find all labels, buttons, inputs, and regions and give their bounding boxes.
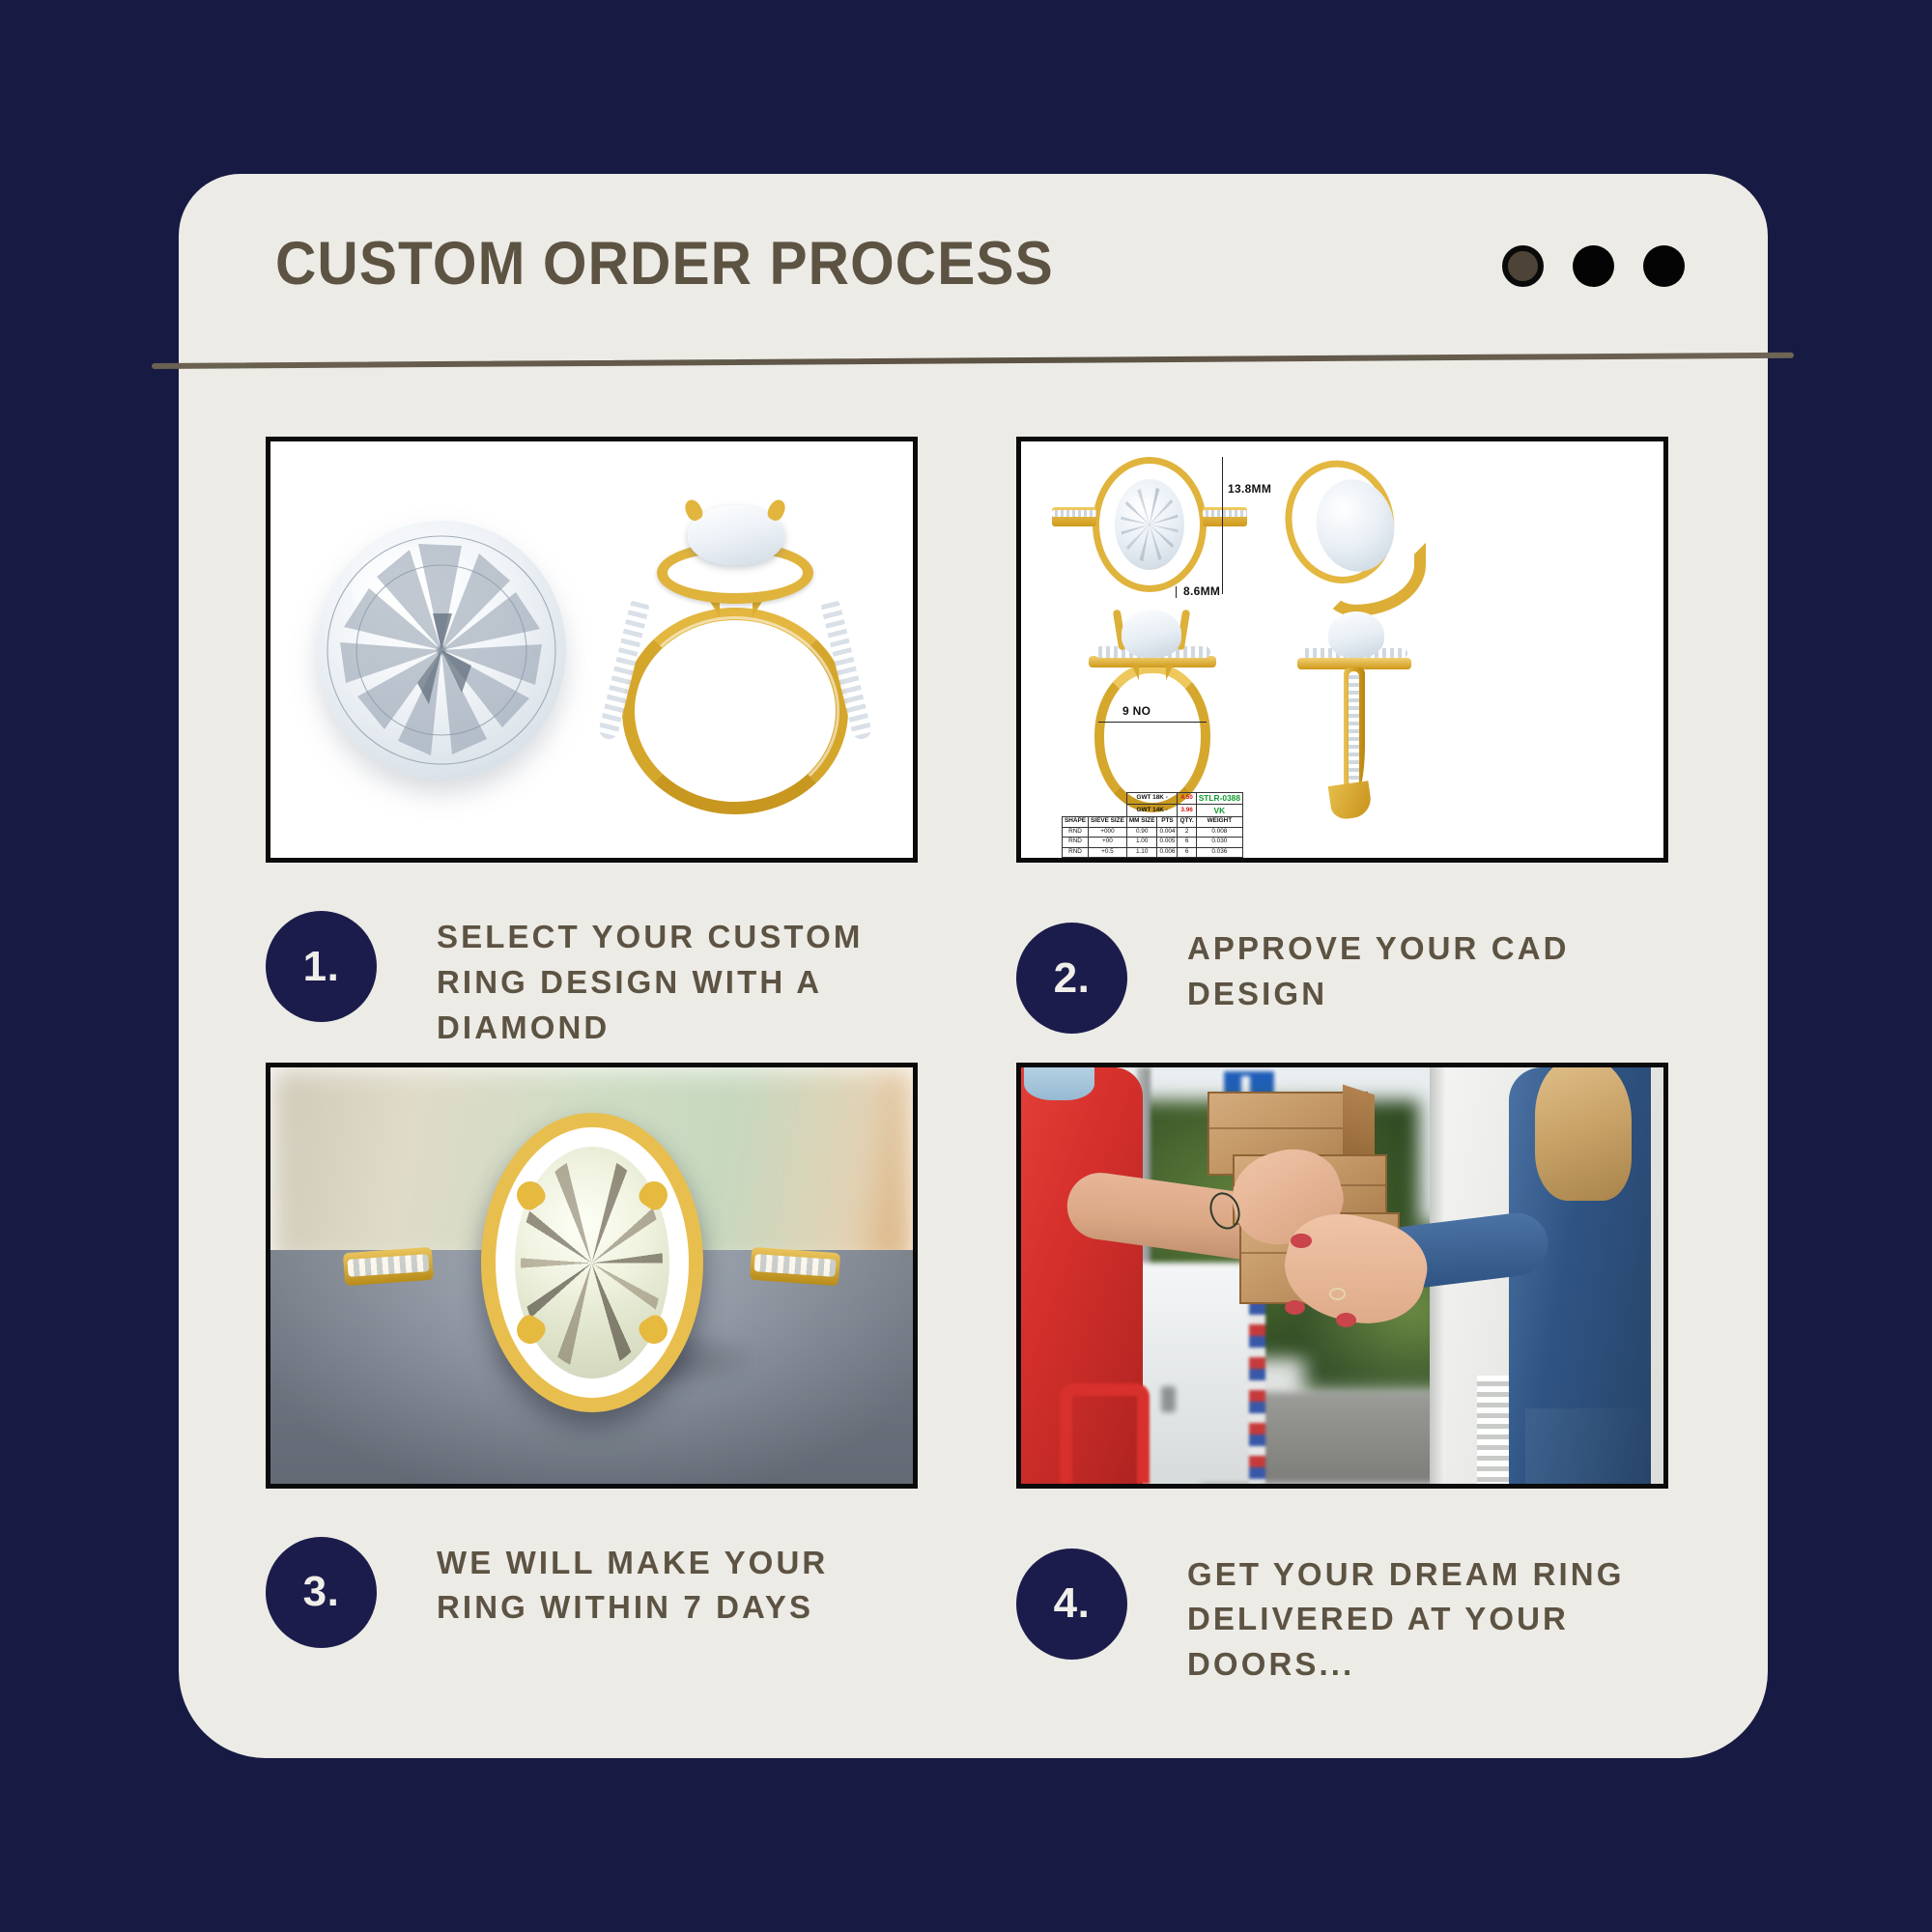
step-2-caption-row: 2. APPROVE YOUR CAD DESIGN	[1016, 923, 1668, 1034]
step-card-3[interactable]: 3. WE WILL MAKE YOUR RING WITHIN 7 DAYS	[266, 1063, 918, 1689]
window-card: CUSTOM ORDER PROCESS	[179, 174, 1768, 1758]
cad-th-weight: WEIGHT	[1196, 817, 1242, 828]
cad-table-row: RND +0.5 1.10 0.006 6 0.036	[1063, 847, 1243, 858]
finished-ring-photo	[270, 1067, 913, 1484]
step-3-caption: WE WILL MAKE YOUR RING WITHIN 7 DAYS	[437, 1537, 918, 1632]
cad-drawing-sheet: 13.8MM 8.6MM	[1021, 441, 1663, 858]
cad-dimension-8-6mm: 8.6MM	[1183, 584, 1220, 598]
cad-th-mm: MM SIZE	[1126, 817, 1157, 828]
cad-dim-leader-2	[1176, 586, 1177, 598]
cad-th-sieve: SIEVE SIZE	[1089, 817, 1127, 828]
cad-spec-table: GWT 18K - 4.50 STLR-0388 GWT 14K - 3.96 …	[1062, 792, 1243, 858]
cad-cell: 2	[1178, 827, 1196, 838]
cad-table-row: RND +00 1.00 0.005 6 0.030	[1063, 838, 1243, 848]
cad-cell: RND	[1063, 847, 1089, 858]
page-title: CUSTOM ORDER PROCESS	[275, 229, 1054, 298]
cad-cell: 1.00	[1126, 838, 1157, 848]
cad-view-iso	[1266, 446, 1427, 615]
cad-initials: VK	[1196, 805, 1242, 817]
cad-cell: +0.5	[1089, 847, 1127, 858]
window-dot-2-icon[interactable]	[1573, 245, 1614, 287]
window-dot-3-icon[interactable]	[1643, 245, 1685, 287]
cad-view-top-face	[1093, 457, 1207, 592]
cad-gwt-14k-label: GWT 14K -	[1126, 805, 1178, 817]
step-card-1[interactable]: 1. SELECT YOUR CUSTOM RING DESIGN WITH A…	[266, 437, 918, 1051]
header-divider	[152, 353, 1794, 369]
step-3-caption-row: 3. WE WILL MAKE YOUR RING WITHIN 7 DAYS	[266, 1537, 918, 1648]
cad-table-gwt-18k-row: GWT 18K - 4.50 STLR-0388	[1063, 792, 1243, 805]
cad-th-pts: PTS	[1157, 817, 1178, 828]
cad-table-gwt-14k-row: GWT 14K - 3.96 VK	[1063, 805, 1243, 817]
cad-cell: 6	[1178, 847, 1196, 858]
halo-ring-graphic	[595, 492, 875, 820]
cad-th-shape: SHAPE	[1063, 817, 1089, 828]
step-2-caption: APPROVE YOUR CAD DESIGN	[1187, 923, 1641, 1017]
cad-cell: 1.10	[1126, 847, 1157, 858]
cad-dim-leader-3	[1098, 722, 1207, 723]
cad-cell: 0.006	[1157, 847, 1178, 858]
step-card-2[interactable]: 13.8MM 8.6MM	[1016, 437, 1668, 1051]
step-4-caption-row: 4. GET YOUR DREAM RING DELIVERED AT YOUR…	[1016, 1548, 1668, 1689]
window-controls[interactable]	[1502, 245, 1685, 287]
cad-cell: RND	[1063, 838, 1089, 848]
steps-row-2: 3. WE WILL MAKE YOUR RING WITHIN 7 DAYS	[266, 1063, 1753, 1689]
cad-gwt-18k-value: 4.50	[1178, 792, 1196, 805]
step-2-image[interactable]: 13.8MM 8.6MM	[1016, 437, 1668, 863]
cad-table-header-row: SHAPE SIEVE SIZE MM SIZE PTS QTY. WEIGHT	[1063, 817, 1243, 828]
loose-diamond-graphic	[317, 521, 566, 780]
cad-style-code: STLR-0388	[1196, 792, 1242, 805]
window-header: CUSTOM ORDER PROCESS	[179, 174, 1768, 367]
step-1-caption: SELECT YOUR CUSTOM RING DESIGN WITH A DI…	[437, 911, 918, 1051]
cad-gwt-18k-label: GWT 18K -	[1126, 792, 1178, 805]
cad-cell: 0.030	[1196, 838, 1242, 848]
delivery-photo	[1021, 1067, 1663, 1484]
cad-view-profile	[1297, 604, 1413, 822]
cad-dimension-ring-size: 9 NO	[1122, 704, 1151, 718]
step-4-badge: 4.	[1016, 1548, 1127, 1660]
step-3-badge: 3.	[266, 1537, 377, 1648]
steps-grid: 1. SELECT YOUR CUSTOM RING DESIGN WITH A…	[266, 437, 1753, 1688]
steps-row-1: 1. SELECT YOUR CUSTOM RING DESIGN WITH A…	[266, 437, 1753, 1051]
cad-th-qty: QTY.	[1178, 817, 1196, 828]
step-card-4[interactable]: 4. GET YOUR DREAM RING DELIVERED AT YOUR…	[1016, 1063, 1668, 1689]
cad-gwt-14k-value: 3.96	[1178, 805, 1196, 817]
cad-cell: 0.004	[1157, 827, 1178, 838]
step-2-badge: 2.	[1016, 923, 1127, 1034]
step-1-badge: 1.	[266, 911, 377, 1022]
cad-cell: +00	[1089, 838, 1127, 848]
step-1-caption-row: 1. SELECT YOUR CUSTOM RING DESIGN WITH A…	[266, 911, 918, 1051]
step-4-caption: GET YOUR DREAM RING DELIVERED AT YOUR DO…	[1187, 1548, 1641, 1689]
screenshot-root: CUSTOM ORDER PROCESS	[0, 0, 1932, 1932]
cad-cell: 6	[1178, 838, 1196, 848]
cad-cell: +000	[1089, 827, 1127, 838]
cad-cell: 0.005	[1157, 838, 1178, 848]
step-1-image[interactable]	[266, 437, 918, 863]
cad-cell: RND	[1063, 827, 1089, 838]
window-dot-1-icon[interactable]	[1502, 245, 1544, 287]
cad-table-row: RND +000 0.90 0.004 2 0.008	[1063, 827, 1243, 838]
cad-cell: 0.90	[1126, 827, 1157, 838]
cad-cell: 0.008	[1196, 827, 1242, 838]
cad-dim-leader-1	[1222, 457, 1223, 594]
cad-cell: 0.036	[1196, 847, 1242, 858]
step-4-image[interactable]	[1016, 1063, 1668, 1489]
cad-view-front	[1089, 604, 1216, 816]
cad-dimension-13-8mm: 13.8MM	[1228, 482, 1271, 496]
step-3-image[interactable]	[266, 1063, 918, 1489]
